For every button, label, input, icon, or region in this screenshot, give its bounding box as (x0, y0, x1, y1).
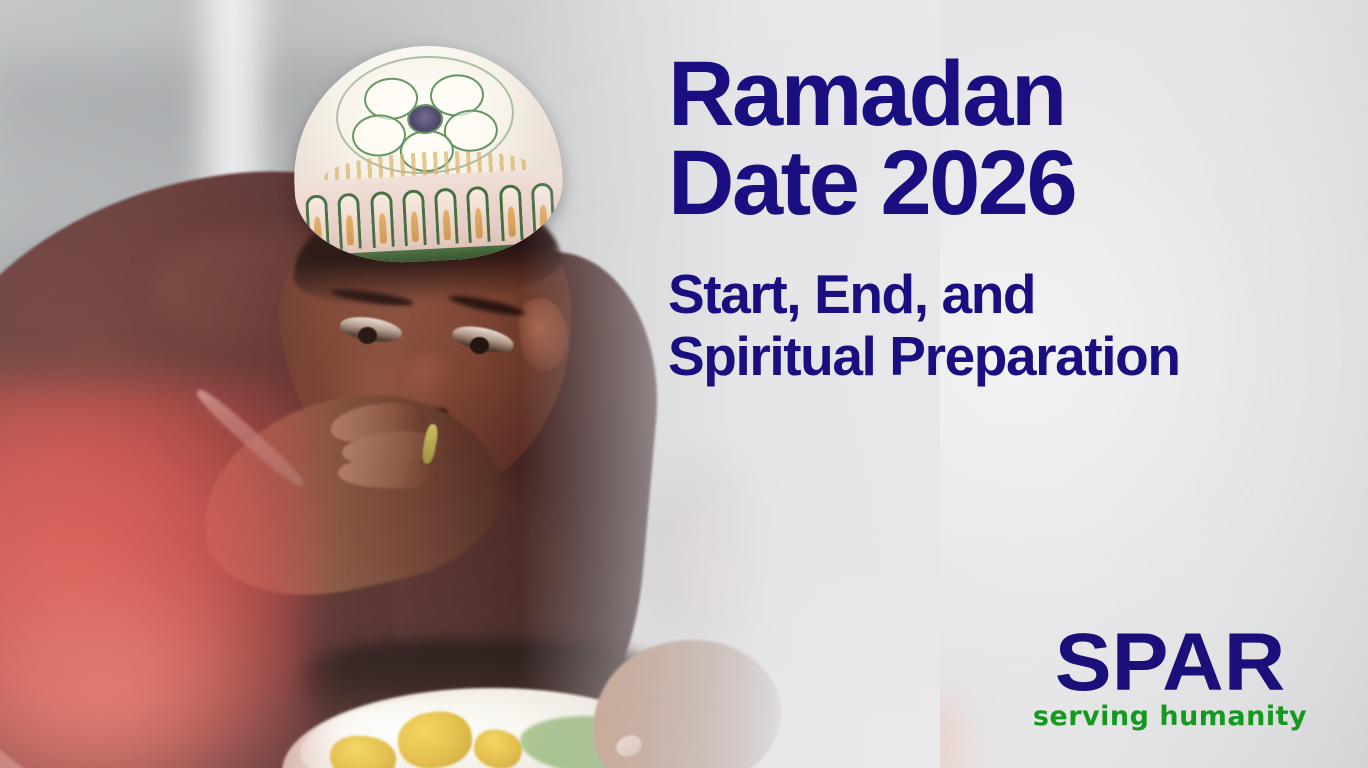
cap-arch (305, 194, 330, 251)
pupil-right (470, 337, 489, 354)
page-title: Ramadan Date 2026 (668, 50, 1368, 228)
cap-arch-pattern (294, 168, 565, 252)
foreground-red-blur-secondary (0, 560, 280, 768)
logo-wordmark: SPAR (1014, 628, 1326, 699)
taqiyah-cap-icon (288, 39, 567, 268)
spar-logo[interactable]: SPAR serving humanity (1020, 628, 1320, 730)
cap-arch (337, 193, 362, 250)
cap-arch (402, 189, 427, 246)
cap-arch (466, 186, 491, 243)
cap-arch (498, 184, 523, 241)
cap-arch (370, 191, 395, 248)
cap-arch (434, 188, 459, 245)
page-subtitle: Start, End, and Spiritual Preparation (668, 264, 1368, 387)
cap-arch (530, 182, 555, 239)
headline-block: Ramadan Date 2026 Start, End, and Spirit… (668, 50, 1368, 388)
ramadan-banner: Ramadan Date 2026 Start, End, and Spirit… (0, 0, 1368, 768)
pupil-left (358, 327, 377, 344)
